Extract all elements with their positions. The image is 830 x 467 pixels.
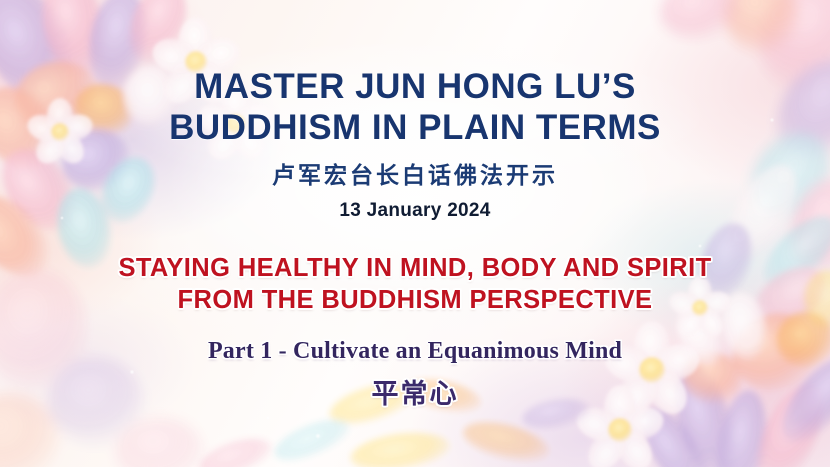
- topic-title-line-2: FROM THE BUDDHISM PERSPECTIVE: [178, 286, 653, 315]
- event-date: 13 January 2024: [339, 200, 490, 222]
- topic-title-line-1: STAYING HEALTHY IN MIND, BODY AND SPIRIT: [118, 254, 711, 283]
- slide-title-chinese: 卢军宏台长白话佛法开示: [272, 156, 558, 190]
- slide-content: MASTER JUN HONG LU’S BUDDHISM IN PLAIN T…: [0, 0, 830, 467]
- slide-title-line-1: MASTER JUN HONG LU’S: [194, 68, 636, 105]
- part-subtitle-chinese: 平常心: [372, 372, 459, 411]
- part-subtitle: Part 1 - Cultivate an Equanimous Mind: [208, 338, 622, 365]
- slide-title-line-2: BUDDHISM IN PLAIN TERMS: [169, 109, 661, 146]
- presentation-slide: MASTER JUN HONG LU’S BUDDHISM IN PLAIN T…: [0, 0, 830, 467]
